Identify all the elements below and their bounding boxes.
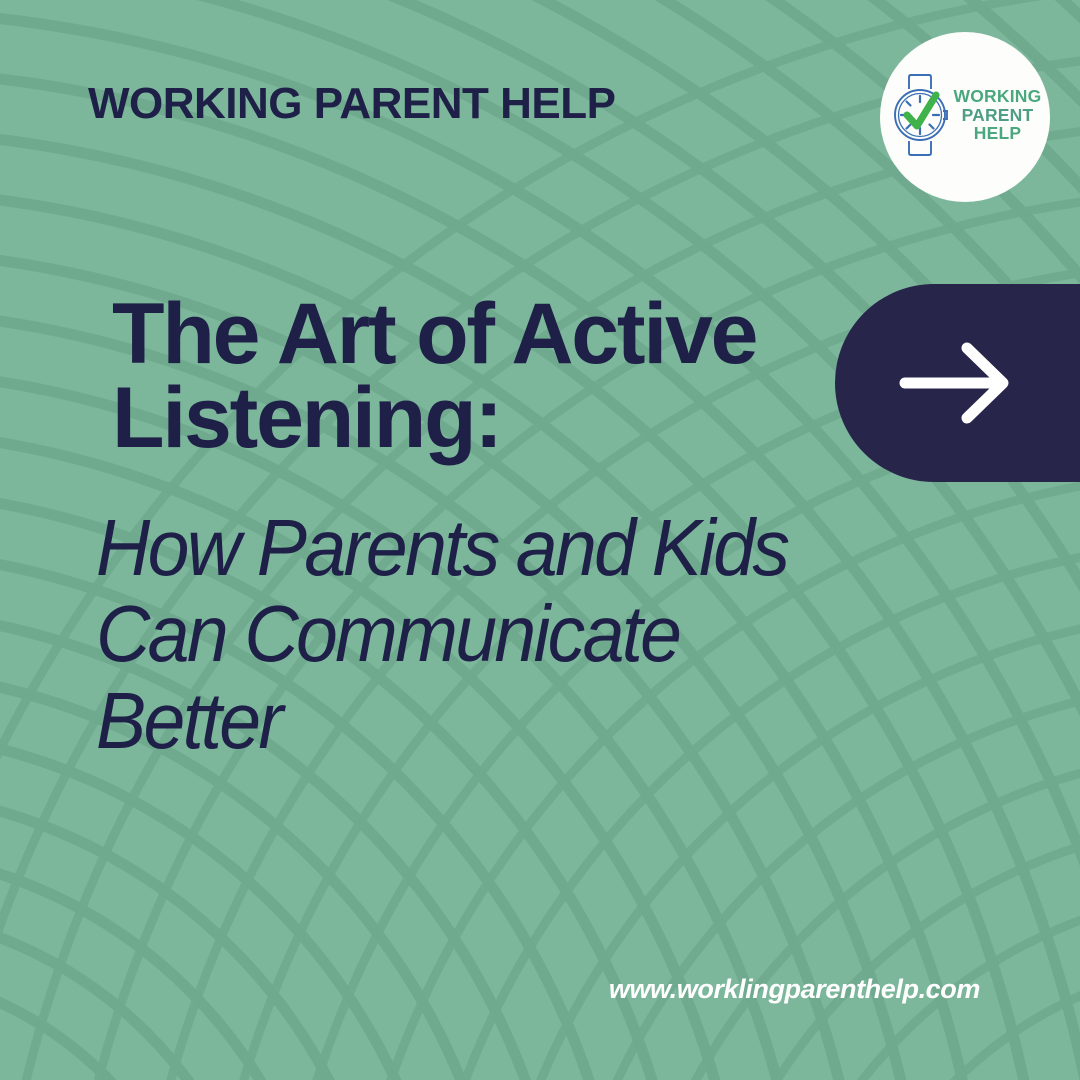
logo-line-2: PARENT — [962, 106, 1034, 125]
logo-line-1: WORKING — [954, 87, 1042, 106]
page-subtitle: How Parents and Kids Can Communicate Bet… — [96, 505, 886, 764]
subtitle-line-1: How Parents and Kids — [96, 505, 886, 591]
subtitle-line-3: Better — [96, 678, 886, 764]
headline-line-1: The Art of Active — [112, 292, 832, 376]
arrow-right-icon — [897, 335, 1015, 431]
website-url[interactable]: www.worklingparenthelp.com — [609, 974, 980, 1005]
next-arrow-button[interactable] — [835, 284, 1080, 482]
logo-wordmark: WORKING PARENT HELP — [954, 87, 1042, 144]
page-title: The Art of Active Listening: — [112, 292, 832, 461]
logo-lockup: WORKING PARENT HELP — [889, 73, 1042, 157]
logo-line-3: HELP — [974, 124, 1021, 143]
headline-line-2: Listening: — [112, 376, 832, 460]
subtitle-line-2: Can Communicate — [96, 591, 886, 677]
wristwatch-check-icon — [889, 73, 951, 157]
logo-badge[interactable]: WORKING PARENT HELP — [880, 32, 1050, 202]
social-post-card: WORKING PARENT HELP — [0, 0, 1080, 1080]
brand-header-text: WORKING PARENT HELP — [88, 82, 615, 126]
